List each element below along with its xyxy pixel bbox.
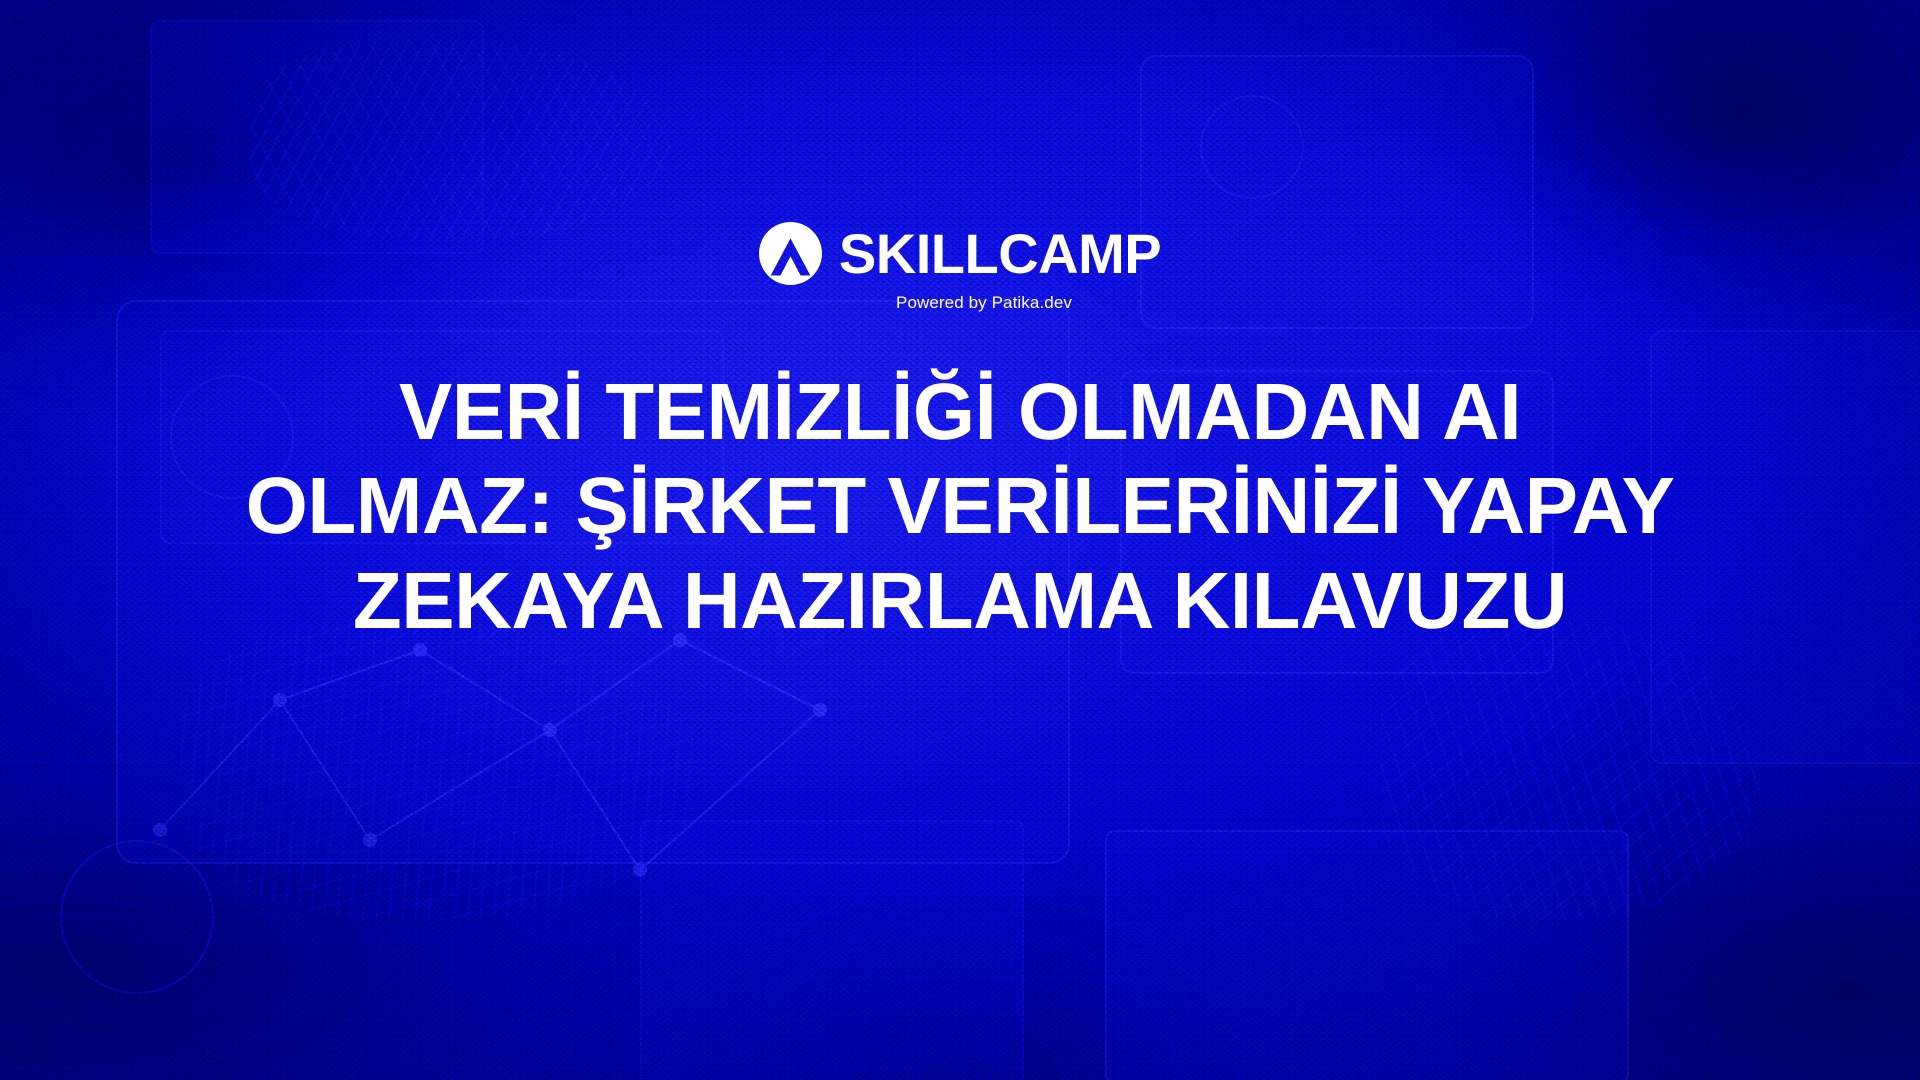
banner-canvas: SKILLCAMP Powered by Patika.dev VERİ TEM… [0, 0, 1920, 1080]
title-line: ZEKAYA HAZIRLAMA KILAVUZU [130, 554, 1790, 648]
brand-logo: SKILLCAMP Powered by Patika.dev [759, 222, 1161, 311]
title-line: VERİ TEMİZLİĞİ OLMADAN AI [130, 365, 1790, 459]
logo-tagline: Powered by Patika.dev [896, 294, 1072, 311]
title-line: OLMAZ: ŞİRKET VERİLERİNİZİ YAPAY [130, 459, 1790, 553]
logo-wordmark: SKILLCAMP [839, 226, 1161, 282]
skillcamp-mountain-circle-icon [759, 222, 822, 285]
page-title: VERİ TEMİZLİĞİ OLMADAN AI OLMAZ: ŞİRKET … [130, 365, 1790, 648]
logo-row: SKILLCAMP [759, 222, 1161, 285]
banner-content: SKILLCAMP Powered by Patika.dev VERİ TEM… [0, 0, 1920, 1080]
